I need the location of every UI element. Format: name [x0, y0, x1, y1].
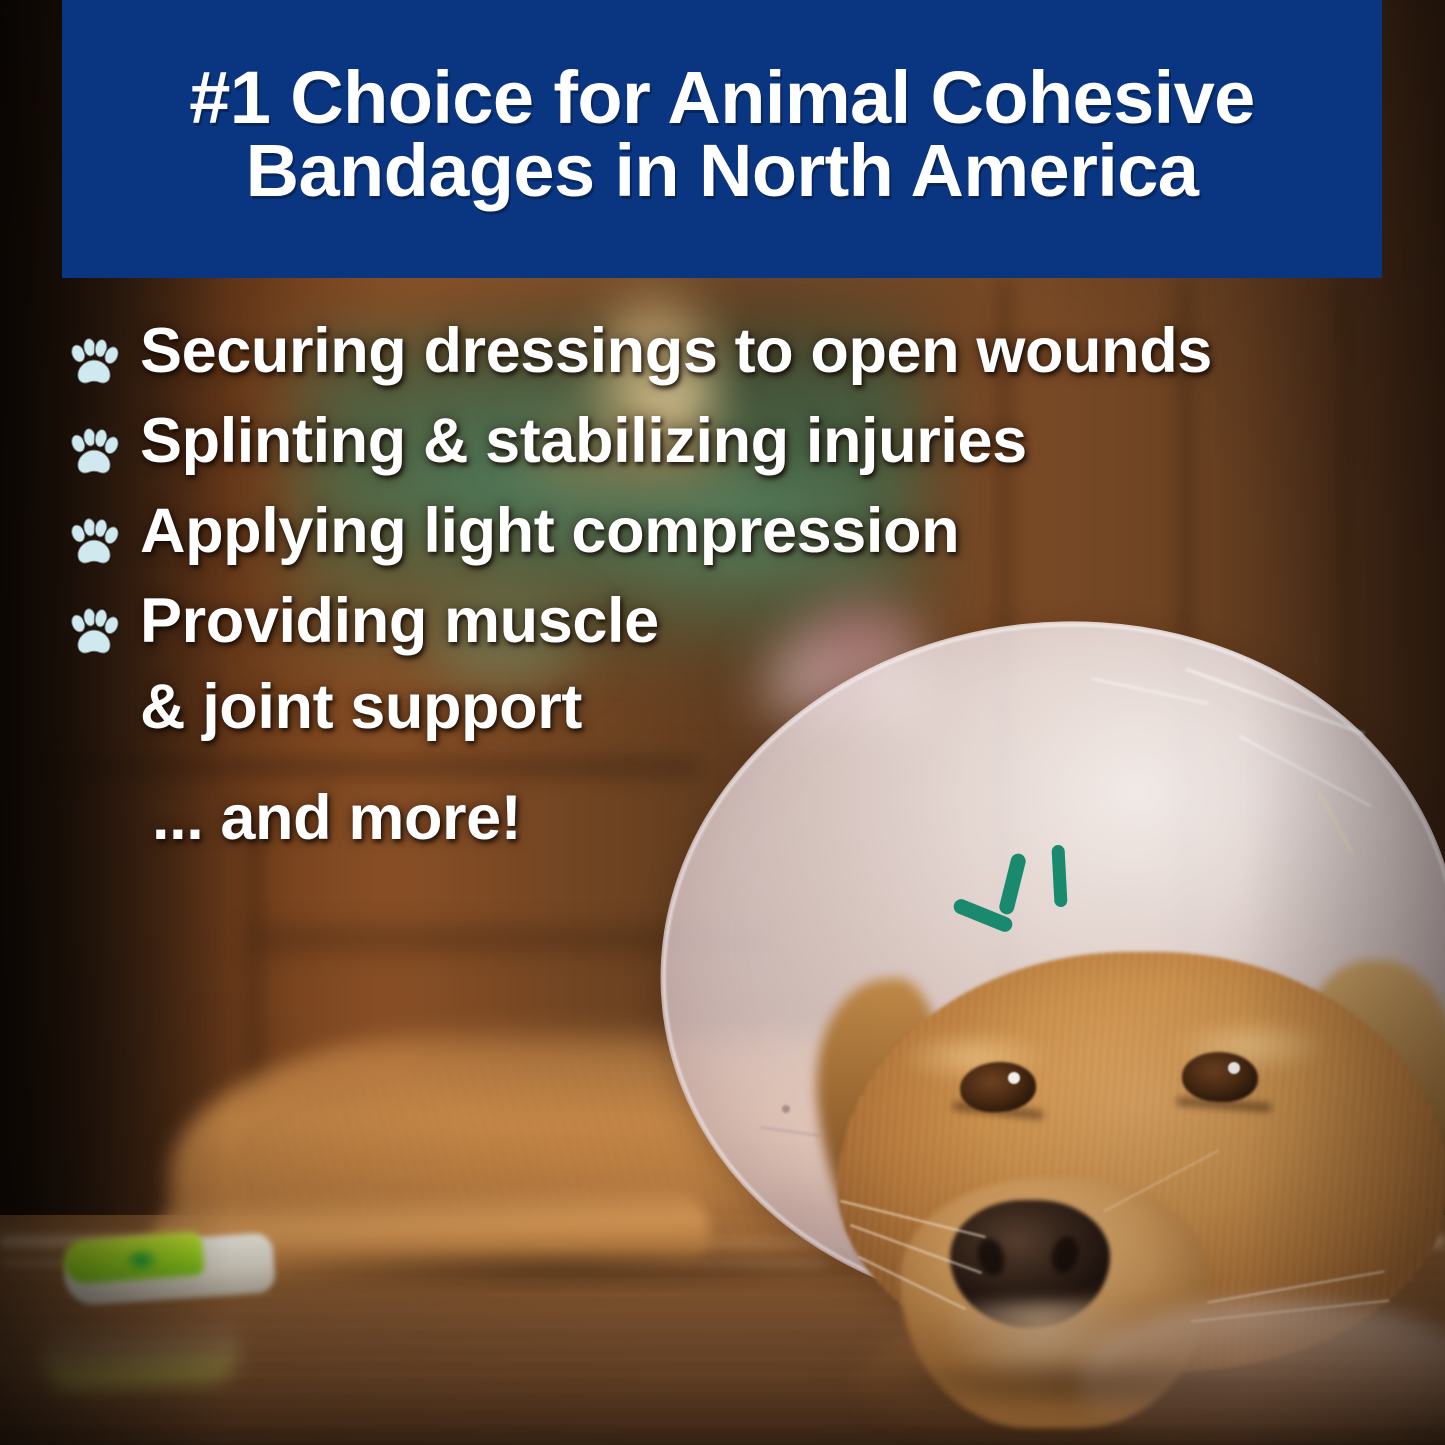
- closing-line: ... and more!: [152, 785, 1426, 852]
- paw-print-icon: [66, 606, 122, 662]
- paw-print-icon: [66, 426, 122, 482]
- list-item: Securing dressings to open wounds: [66, 318, 1426, 392]
- text-overlay: #1 Choice for Animal Cohesive Bandages i…: [0, 0, 1445, 1445]
- list-item-label: Applying light compression: [140, 498, 959, 565]
- headline-banner: #1 Choice for Animal Cohesive Bandages i…: [62, 0, 1382, 278]
- list-item: Splinting & stabilizing injuries: [66, 408, 1426, 482]
- headline-text: #1 Choice for Animal Cohesive Bandages i…: [92, 62, 1352, 207]
- list-item: Applying light compression: [66, 498, 1426, 572]
- benefits-list: Securing dressings to open wounds Sp: [66, 318, 1426, 852]
- list-item-continuation: & joint support: [140, 674, 1426, 741]
- list-item: Providing muscle: [66, 588, 1426, 662]
- list-item-label: Securing dressings to open wounds: [140, 318, 1212, 385]
- product-benefit-graphic: #1 Choice for Animal Cohesive Bandages i…: [0, 0, 1445, 1445]
- paw-print-icon: [66, 516, 122, 572]
- paw-print-icon: [66, 336, 122, 392]
- list-item-label: Splinting & stabilizing injuries: [140, 408, 1027, 475]
- list-item-label: Providing muscle: [140, 588, 659, 655]
